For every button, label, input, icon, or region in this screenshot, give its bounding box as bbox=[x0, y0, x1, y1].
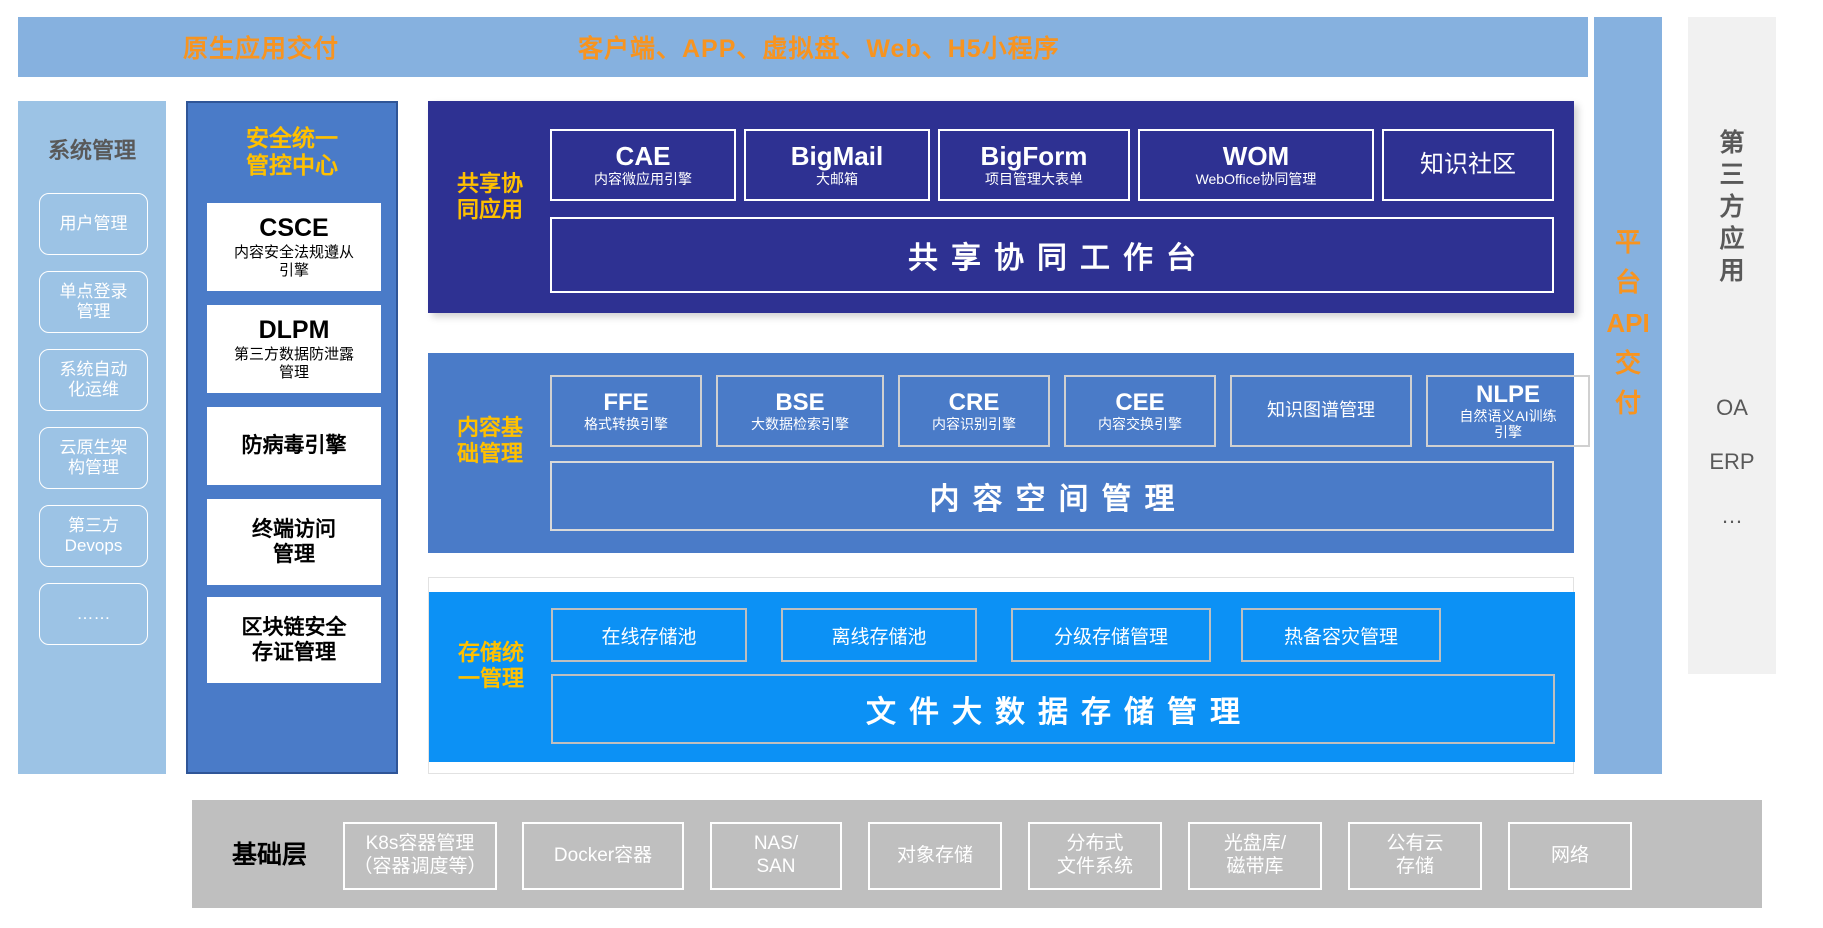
app-tile-bigmail-desc: 大邮箱 bbox=[816, 171, 858, 187]
engine-tile-knowledge-graph[interactable]: 知识图谱管理 bbox=[1230, 375, 1412, 447]
engine-tile-bse-desc: 大数据检索引擎 bbox=[751, 416, 849, 432]
sys-item-more[interactable]: …… bbox=[39, 583, 148, 645]
security-card-blockchain-evidence-label: 区块链安全存证管理 bbox=[242, 615, 347, 665]
base-tile-docker[interactable]: Docker容器 bbox=[522, 822, 684, 890]
engine-tile-nlpe[interactable]: NLPE 自然语义AI训练引擎 bbox=[1426, 375, 1590, 447]
app-tile-wom-desc: WebOffice协同管理 bbox=[1196, 171, 1317, 187]
app-tile-bigform-desc: 项目管理大表单 bbox=[985, 171, 1083, 187]
engine-tile-ffe-abbr: FFE bbox=[603, 390, 648, 415]
base-tile-network[interactable]: 网络 bbox=[1508, 822, 1632, 890]
app-tile-knowledge-community-label: 知识社区 bbox=[1420, 152, 1516, 178]
base-layer-title: 基础层 bbox=[232, 835, 307, 871]
third-party-apps-column: 第三方应用 OA ERP … bbox=[1688, 17, 1776, 674]
sys-item-third-party-devops[interactable]: 第三方Devops bbox=[39, 505, 148, 567]
security-card-blockchain-evidence[interactable]: 区块链安全存证管理 bbox=[207, 597, 381, 683]
engine-tile-cee[interactable]: CEE 内容交换引擎 bbox=[1064, 375, 1216, 447]
system-management-title: 系统管理 bbox=[18, 133, 166, 165]
security-card-dlpm[interactable]: DLPM 第三方数据防泄露管理 bbox=[207, 305, 381, 393]
security-card-csce[interactable]: CSCE 内容安全法规遵从引擎 bbox=[207, 203, 381, 291]
app-tile-knowledge-community[interactable]: 知识社区 bbox=[1382, 129, 1554, 201]
base-tile-object-storage[interactable]: 对象存储 bbox=[868, 822, 1002, 890]
app-tile-bigform-abbr: BigForm bbox=[981, 143, 1088, 170]
native-app-delivery-label: 原生应用交付 bbox=[183, 29, 339, 65]
storage-tile-tiered-storage[interactable]: 分级存储管理 bbox=[1011, 608, 1211, 662]
sys-item-automated-ops[interactable]: 系统自动化运维 bbox=[39, 349, 148, 411]
app-tile-bigmail[interactable]: BigMail 大邮箱 bbox=[744, 129, 930, 201]
shared-collaboration-row-label: 共享协同应用 bbox=[442, 171, 538, 224]
platform-api-delivery-label: 平台API交付 bbox=[1594, 222, 1662, 423]
top-banner: 原生应用交付 客户端、APP、虚拟盘、Web、H5小程序 bbox=[18, 17, 1588, 77]
shared-collaboration-workbench-bar[interactable]: 共享协同工作台 bbox=[550, 217, 1554, 293]
app-tile-cae-desc: 内容微应用引擎 bbox=[594, 171, 692, 187]
base-tile-public-cloud-storage[interactable]: 公有云存储 bbox=[1348, 822, 1482, 890]
base-layer-row: 基础层 K8s容器管理（容器调度等） Docker容器 NAS/SAN 对象存储… bbox=[192, 800, 1762, 908]
security-card-dlpm-abbr: DLPM bbox=[259, 317, 330, 345]
engine-tile-knowledge-graph-label: 知识图谱管理 bbox=[1267, 401, 1375, 421]
shared-collaboration-row: 共享协同应用 CAE 内容微应用引擎 BigMail 大邮箱 BigForm 项… bbox=[428, 101, 1574, 313]
security-card-endpoint-access-label: 终端访问管理 bbox=[252, 517, 336, 567]
app-tile-bigform[interactable]: BigForm 项目管理大表单 bbox=[938, 129, 1130, 201]
content-foundation-row-label: 内容基础管理 bbox=[442, 415, 538, 468]
client-channels-label: 客户端、APP、虚拟盘、Web、H5小程序 bbox=[578, 29, 1060, 65]
engine-tile-cee-desc: 内容交换引擎 bbox=[1098, 416, 1182, 432]
storage-section-frame: 存储统一管理 在线存储池 离线存储池 分级存储管理 热备容灾管理 文件大数据存储… bbox=[428, 577, 1574, 774]
security-center-title: 安全统一管控中心 bbox=[188, 125, 396, 179]
engine-tile-ffe[interactable]: FFE 格式转换引擎 bbox=[550, 375, 702, 447]
base-tile-optical-tape-library[interactable]: 光盘库/磁带库 bbox=[1188, 822, 1322, 890]
app-tile-wom-abbr: WOM bbox=[1223, 143, 1289, 170]
engine-tile-bse[interactable]: BSE 大数据检索引擎 bbox=[716, 375, 884, 447]
storage-tile-online-pool[interactable]: 在线存储池 bbox=[551, 608, 747, 662]
engine-tile-cee-abbr: CEE bbox=[1115, 390, 1164, 415]
app-tile-bigmail-abbr: BigMail bbox=[791, 143, 883, 170]
security-card-antivirus-engine[interactable]: 防病毒引擎 bbox=[207, 407, 381, 485]
security-card-endpoint-access[interactable]: 终端访问管理 bbox=[207, 499, 381, 585]
system-management-column: 系统管理 用户管理 单点登录管理 系统自动化运维 云原生架构管理 第三方Devo… bbox=[18, 101, 166, 774]
content-space-management-bar[interactable]: 内容空间管理 bbox=[550, 461, 1554, 531]
third-party-apps-title: 第三方应用 bbox=[1688, 127, 1776, 287]
storage-unified-row-label: 存储统一管理 bbox=[443, 640, 539, 693]
security-card-csce-desc: 内容安全法规遵从引擎 bbox=[234, 244, 354, 279]
base-tile-distributed-fs[interactable]: 分布式文件系统 bbox=[1028, 822, 1162, 890]
storage-unified-row: 存储统一管理 在线存储池 离线存储池 分级存储管理 热备容灾管理 文件大数据存储… bbox=[429, 592, 1575, 762]
sys-item-user-management[interactable]: 用户管理 bbox=[39, 193, 148, 255]
app-tile-cae[interactable]: CAE 内容微应用引擎 bbox=[550, 129, 736, 201]
app-tile-wom[interactable]: WOM WebOffice协同管理 bbox=[1138, 129, 1374, 201]
sys-item-cloud-native-arch[interactable]: 云原生架构管理 bbox=[39, 427, 148, 489]
security-control-center-column: 安全统一管控中心 CSCE 内容安全法规遵从引擎 DLPM 第三方数据防泄露管理… bbox=[186, 101, 398, 774]
architecture-diagram: 原生应用交付 客户端、APP、虚拟盘、Web、H5小程序 系统管理 用户管理 单… bbox=[0, 0, 1823, 928]
engine-tile-cre[interactable]: CRE 内容识别引擎 bbox=[898, 375, 1050, 447]
third-party-item-more[interactable]: … bbox=[1688, 503, 1776, 529]
file-bigdata-storage-bar[interactable]: 文件大数据存储管理 bbox=[551, 674, 1555, 744]
storage-tile-offline-pool[interactable]: 离线存储池 bbox=[781, 608, 977, 662]
third-party-item-erp[interactable]: ERP bbox=[1688, 449, 1776, 475]
security-card-csce-abbr: CSCE bbox=[259, 215, 328, 243]
engine-tile-bse-abbr: BSE bbox=[775, 390, 824, 415]
third-party-item-oa[interactable]: OA bbox=[1688, 395, 1776, 421]
engine-tile-nlpe-abbr: NLPE bbox=[1476, 382, 1540, 407]
engine-tile-cre-abbr: CRE bbox=[949, 390, 1000, 415]
base-tile-nas-san[interactable]: NAS/SAN bbox=[710, 822, 842, 890]
content-foundation-row: 内容基础管理 FFE 格式转换引擎 BSE 大数据检索引擎 CRE 内容识别引擎… bbox=[428, 353, 1574, 553]
engine-tile-cre-desc: 内容识别引擎 bbox=[932, 416, 1016, 432]
security-card-antivirus-engine-label: 防病毒引擎 bbox=[242, 433, 347, 458]
sys-item-sso-management[interactable]: 单点登录管理 bbox=[39, 271, 148, 333]
engine-tile-nlpe-desc: 自然语义AI训练引擎 bbox=[1459, 408, 1556, 440]
platform-api-delivery-column: 平台API交付 bbox=[1594, 17, 1662, 774]
storage-tile-hot-backup-dr[interactable]: 热备容灾管理 bbox=[1241, 608, 1441, 662]
app-tile-cae-abbr: CAE bbox=[616, 143, 671, 170]
security-card-dlpm-desc: 第三方数据防泄露管理 bbox=[234, 346, 354, 381]
engine-tile-ffe-desc: 格式转换引擎 bbox=[584, 416, 668, 432]
base-tile-k8s[interactable]: K8s容器管理（容器调度等） bbox=[343, 822, 497, 890]
